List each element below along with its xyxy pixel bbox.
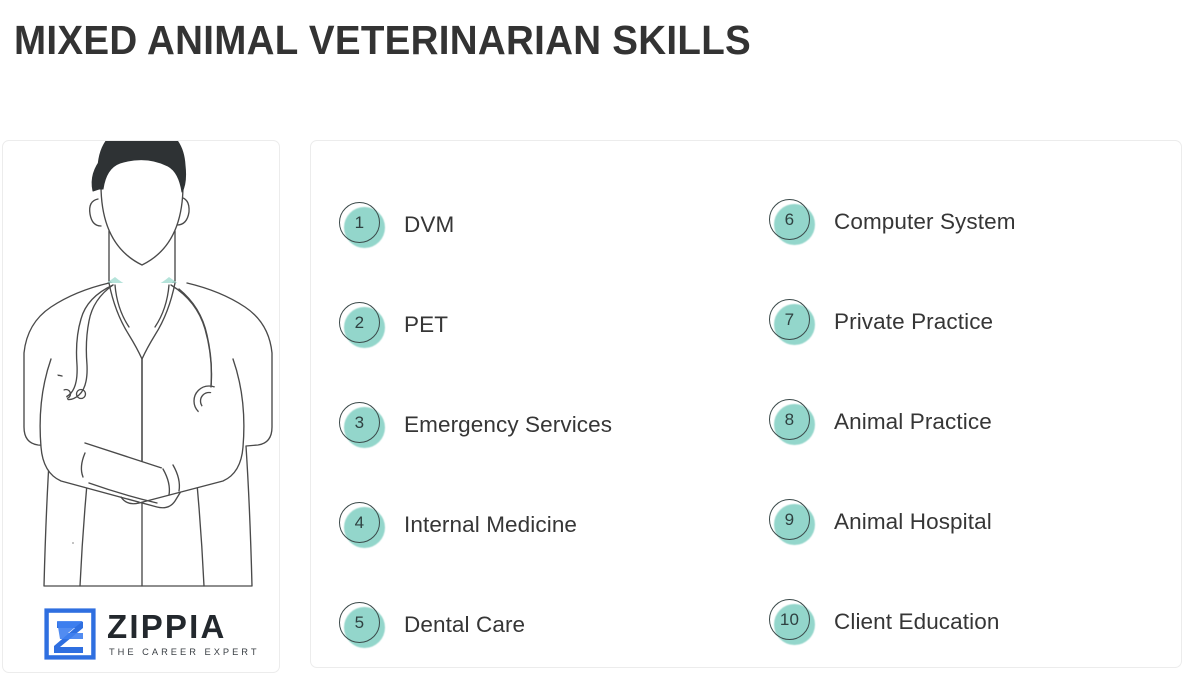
skill-item: 6 Computer System [746, 172, 1181, 272]
skills-column-left: 1 DVM 2 PET [311, 141, 746, 667]
illustration-card [2, 140, 280, 673]
badge-ring-circle: 8 [769, 399, 810, 440]
badge-ring-circle: 5 [339, 602, 380, 643]
skill-number-badge: 5 [339, 602, 385, 648]
zippia-logo-text: ZIPPIA THE CAREER EXPERT [107, 610, 260, 659]
badge-ring-circle: 2 [339, 302, 380, 343]
skills-columns: 1 DVM 2 PET [311, 141, 1181, 667]
skill-label: DVM [404, 212, 454, 238]
badge-ring-circle: 6 [769, 199, 810, 240]
badge-number: 6 [785, 211, 795, 228]
skill-item: 10 Client Education [746, 572, 1181, 672]
skills-card: 1 DVM 2 PET [310, 140, 1182, 668]
badge-number: 4 [355, 514, 365, 531]
infographic-page: MIXED ANIMAL VETERINARIAN SKILLS [0, 0, 1200, 675]
skill-label: Private Practice [834, 309, 993, 335]
badge-number: 5 [355, 614, 365, 631]
zippia-logo: ZIPPIA THE CAREER EXPERT [44, 608, 260, 660]
badge-ring-circle: 7 [769, 299, 810, 340]
skill-item: 1 DVM [311, 175, 746, 275]
badge-number: 7 [785, 311, 795, 328]
badge-number: 9 [785, 511, 795, 528]
badge-ring-circle: 10 [769, 599, 810, 640]
badge-ring-circle: 9 [769, 499, 810, 540]
badge-number: 8 [785, 411, 795, 428]
skill-label: Dental Care [404, 612, 525, 638]
badge-ring-circle: 1 [339, 202, 380, 243]
page-title: MIXED ANIMAL VETERINARIAN SKILLS [14, 16, 751, 64]
skill-item: 5 Dental Care [311, 575, 746, 675]
badge-ring-circle: 3 [339, 402, 380, 443]
skill-label: Emergency Services [404, 412, 612, 438]
skill-item: 7 Private Practice [746, 272, 1181, 372]
skill-number-badge: 4 [339, 502, 385, 548]
skill-number-badge: 7 [769, 299, 815, 345]
badge-ring-circle: 4 [339, 502, 380, 543]
skill-label: Computer System [834, 209, 1016, 235]
skill-label: Internal Medicine [404, 512, 577, 538]
skill-item: 2 PET [311, 275, 746, 375]
zippia-wordmark: ZIPPIA [107, 610, 260, 643]
zippia-tagline: THE CAREER EXPERT [109, 645, 260, 659]
veterinarian-illustration [3, 140, 280, 613]
skill-label: PET [404, 312, 448, 338]
skill-item: 3 Emergency Services [311, 375, 746, 475]
skill-item: 4 Internal Medicine [311, 475, 746, 575]
skill-label: Animal Practice [834, 409, 992, 435]
skill-number-badge: 6 [769, 199, 815, 245]
skill-number-badge: 3 [339, 402, 385, 448]
skill-number-badge: 1 [339, 202, 385, 248]
badge-number: 3 [355, 414, 365, 431]
skill-item: 9 Animal Hospital [746, 472, 1181, 572]
skill-number-badge: 2 [339, 302, 385, 348]
badge-number: 1 [355, 214, 365, 231]
skill-label: Animal Hospital [834, 509, 992, 535]
badge-number: 2 [355, 314, 365, 331]
skills-column-right: 6 Computer System 7 Private Practice [746, 141, 1181, 667]
zippia-z-mark-icon [44, 608, 96, 660]
skill-item: 8 Animal Practice [746, 372, 1181, 472]
badge-number: 10 [780, 611, 799, 628]
skill-number-badge: 10 [769, 599, 815, 645]
skill-number-badge: 8 [769, 399, 815, 445]
skill-label: Client Education [834, 609, 999, 635]
skill-number-badge: 9 [769, 499, 815, 545]
